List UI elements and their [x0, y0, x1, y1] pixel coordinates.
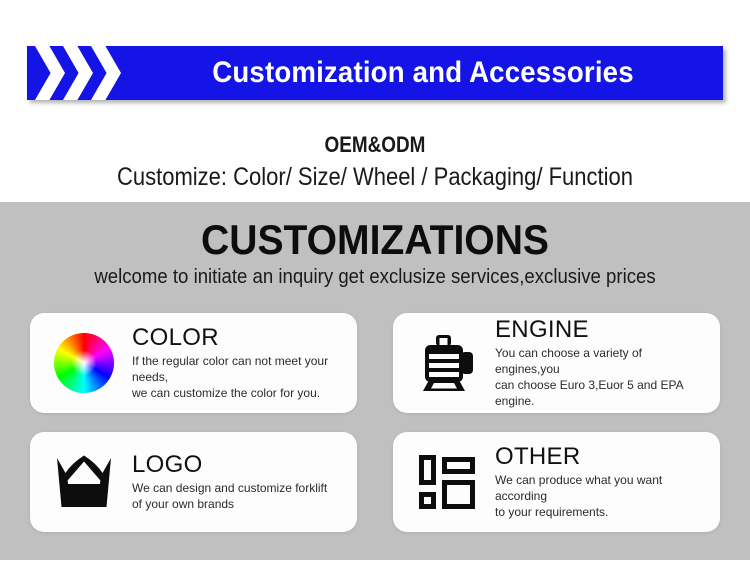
feature-card-logo[interactable]: LOGO We can design and customize forklif…: [30, 432, 357, 532]
card-description-line: can choose Euro 3,Euor 5 and EPA engine.: [495, 377, 710, 409]
layout-grid-icon: [415, 450, 479, 514]
card-body: LOGO We can design and customize forklif…: [132, 452, 347, 513]
card-title: LOGO: [132, 452, 347, 477]
card-description-line: to your requirements.: [495, 504, 710, 520]
section-heading: CUSTOMIZATIONS: [26, 216, 724, 264]
section-subheading: welcome to initiate an inquiry get exclu…: [26, 266, 724, 289]
card-description-line: We can design and customize forklift: [132, 480, 347, 496]
card-description-line: If the regular color can not meet your n…: [132, 353, 347, 385]
header-section: Customization and Accessories OEM&ODM Cu…: [0, 0, 750, 202]
title-banner: Customization and Accessories: [27, 46, 723, 100]
card-body: OTHER We can produce what you want accor…: [495, 444, 710, 521]
feature-card-engine[interactable]: ENGINE You can choose a variety of engin…: [393, 313, 720, 413]
card-description: We can produce what you want according t…: [495, 472, 710, 521]
engine-motor-icon: [415, 331, 479, 395]
card-body: COLOR If the regular color can not meet …: [132, 325, 347, 402]
card-body: ENGINE You can choose a variety of engin…: [495, 317, 710, 410]
banner-title: Customization and Accessories: [147, 46, 699, 100]
card-title: OTHER: [495, 444, 710, 469]
oem-odm-label: OEM&ODM: [53, 132, 698, 158]
card-description: If the regular color can not meet your n…: [132, 353, 347, 402]
card-description: You can choose a variety of engines,you …: [495, 345, 710, 410]
feature-card-grid: COLOR If the regular color can not meet …: [30, 313, 720, 533]
card-description-line: we can customize the color for you.: [132, 385, 347, 401]
feature-card-other[interactable]: OTHER We can produce what you want accor…: [393, 432, 720, 532]
customizations-section: CUSTOMIZATIONS welcome to initiate an in…: [0, 202, 750, 560]
card-description-line: We can produce what you want according: [495, 472, 710, 504]
color-wheel-icon: [52, 331, 116, 395]
feature-card-color[interactable]: COLOR If the regular color can not meet …: [30, 313, 357, 413]
card-description-line: You can choose a variety of engines,you: [495, 345, 710, 377]
card-title: COLOR: [132, 325, 347, 350]
card-description: We can design and customize forklift of …: [132, 480, 347, 512]
crown-logo-icon: [52, 450, 116, 514]
card-title: ENGINE: [495, 317, 710, 342]
customize-options-label: Customize: Color/ Size/ Wheel / Packagin…: [45, 163, 705, 192]
card-description-line: of your own brands: [132, 496, 347, 512]
